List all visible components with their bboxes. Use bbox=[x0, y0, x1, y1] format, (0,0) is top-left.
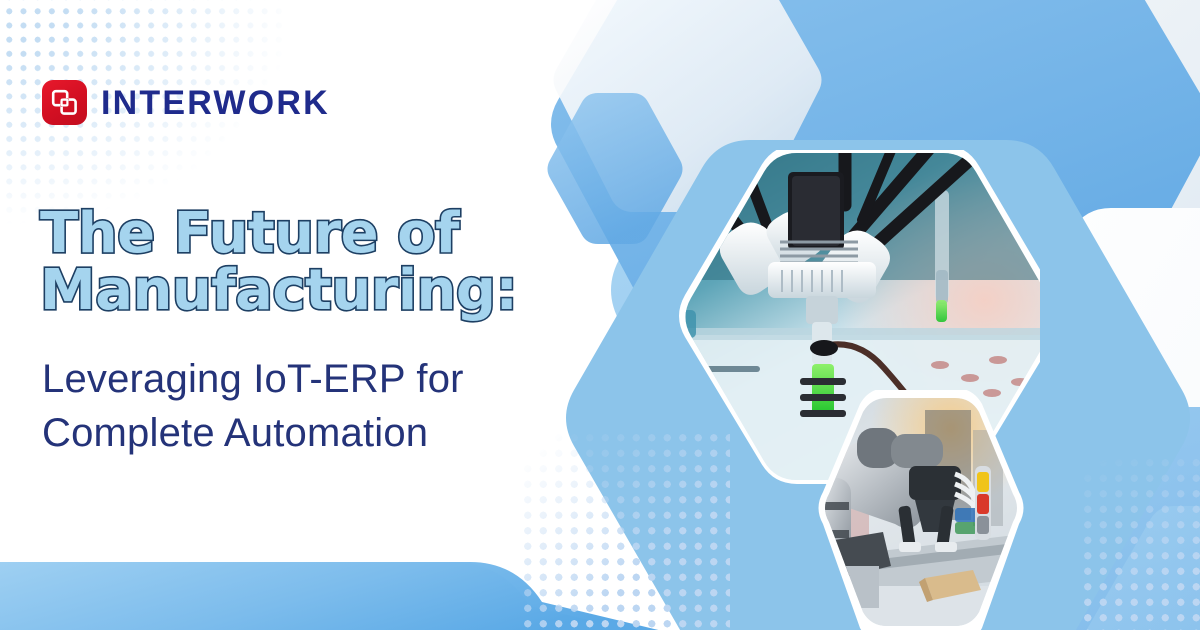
secondary-hexagon-photo bbox=[805, 390, 1040, 630]
interwork-mark-icon bbox=[42, 80, 87, 125]
brand-wordmark: INTERWORK bbox=[101, 86, 330, 120]
headline-line-2: Manufacturing: bbox=[40, 262, 600, 319]
subtitle-line-1: Leveraging IoT-ERP for bbox=[42, 352, 602, 406]
subtitle-line-2: Complete Automation bbox=[42, 406, 602, 460]
page-title: The Future of Manufacturing: bbox=[40, 205, 600, 319]
headline-line-1: The Future of bbox=[40, 205, 600, 262]
dot-grid-bottom-right bbox=[1080, 455, 1200, 630]
page-subtitle: Leveraging IoT-ERP for Complete Automati… bbox=[42, 352, 602, 460]
banner-canvas: INTERWORK The Future of Manufacturing: L… bbox=[0, 0, 1200, 630]
brand-logo[interactable]: INTERWORK bbox=[42, 80, 330, 125]
overlapping-squares-icon bbox=[51, 89, 78, 116]
